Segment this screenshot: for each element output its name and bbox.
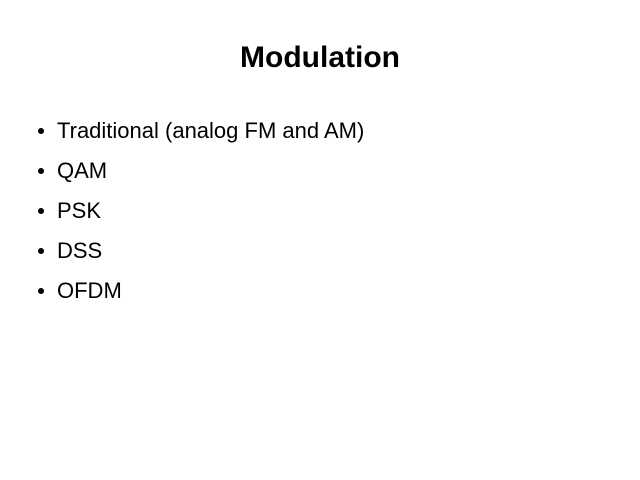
list-item: DSS [32,231,612,271]
list-item: OFDM [32,271,612,311]
list-item: QAM [32,151,612,191]
list-item-label: PSK [57,198,101,223]
presentation-slide: Modulation Traditional (analog FM and AM… [0,0,640,480]
list-item-label: OFDM [57,278,122,303]
page-title: Modulation [0,40,640,76]
list-item-label: QAM [57,158,107,183]
bullet-dot-icon [38,208,44,214]
list-item: Traditional (analog FM and AM) [32,111,612,151]
bullet-list: Traditional (analog FM and AM) QAM PSK D… [32,111,612,311]
bullet-dot-icon [38,128,44,134]
bullet-dot-icon [38,168,44,174]
list-item-label: DSS [57,238,102,263]
bullet-dot-icon [38,288,44,294]
list-item-label: Traditional (analog FM and AM) [57,118,364,143]
bullet-dot-icon [38,248,44,254]
list-item: PSK [32,191,612,231]
